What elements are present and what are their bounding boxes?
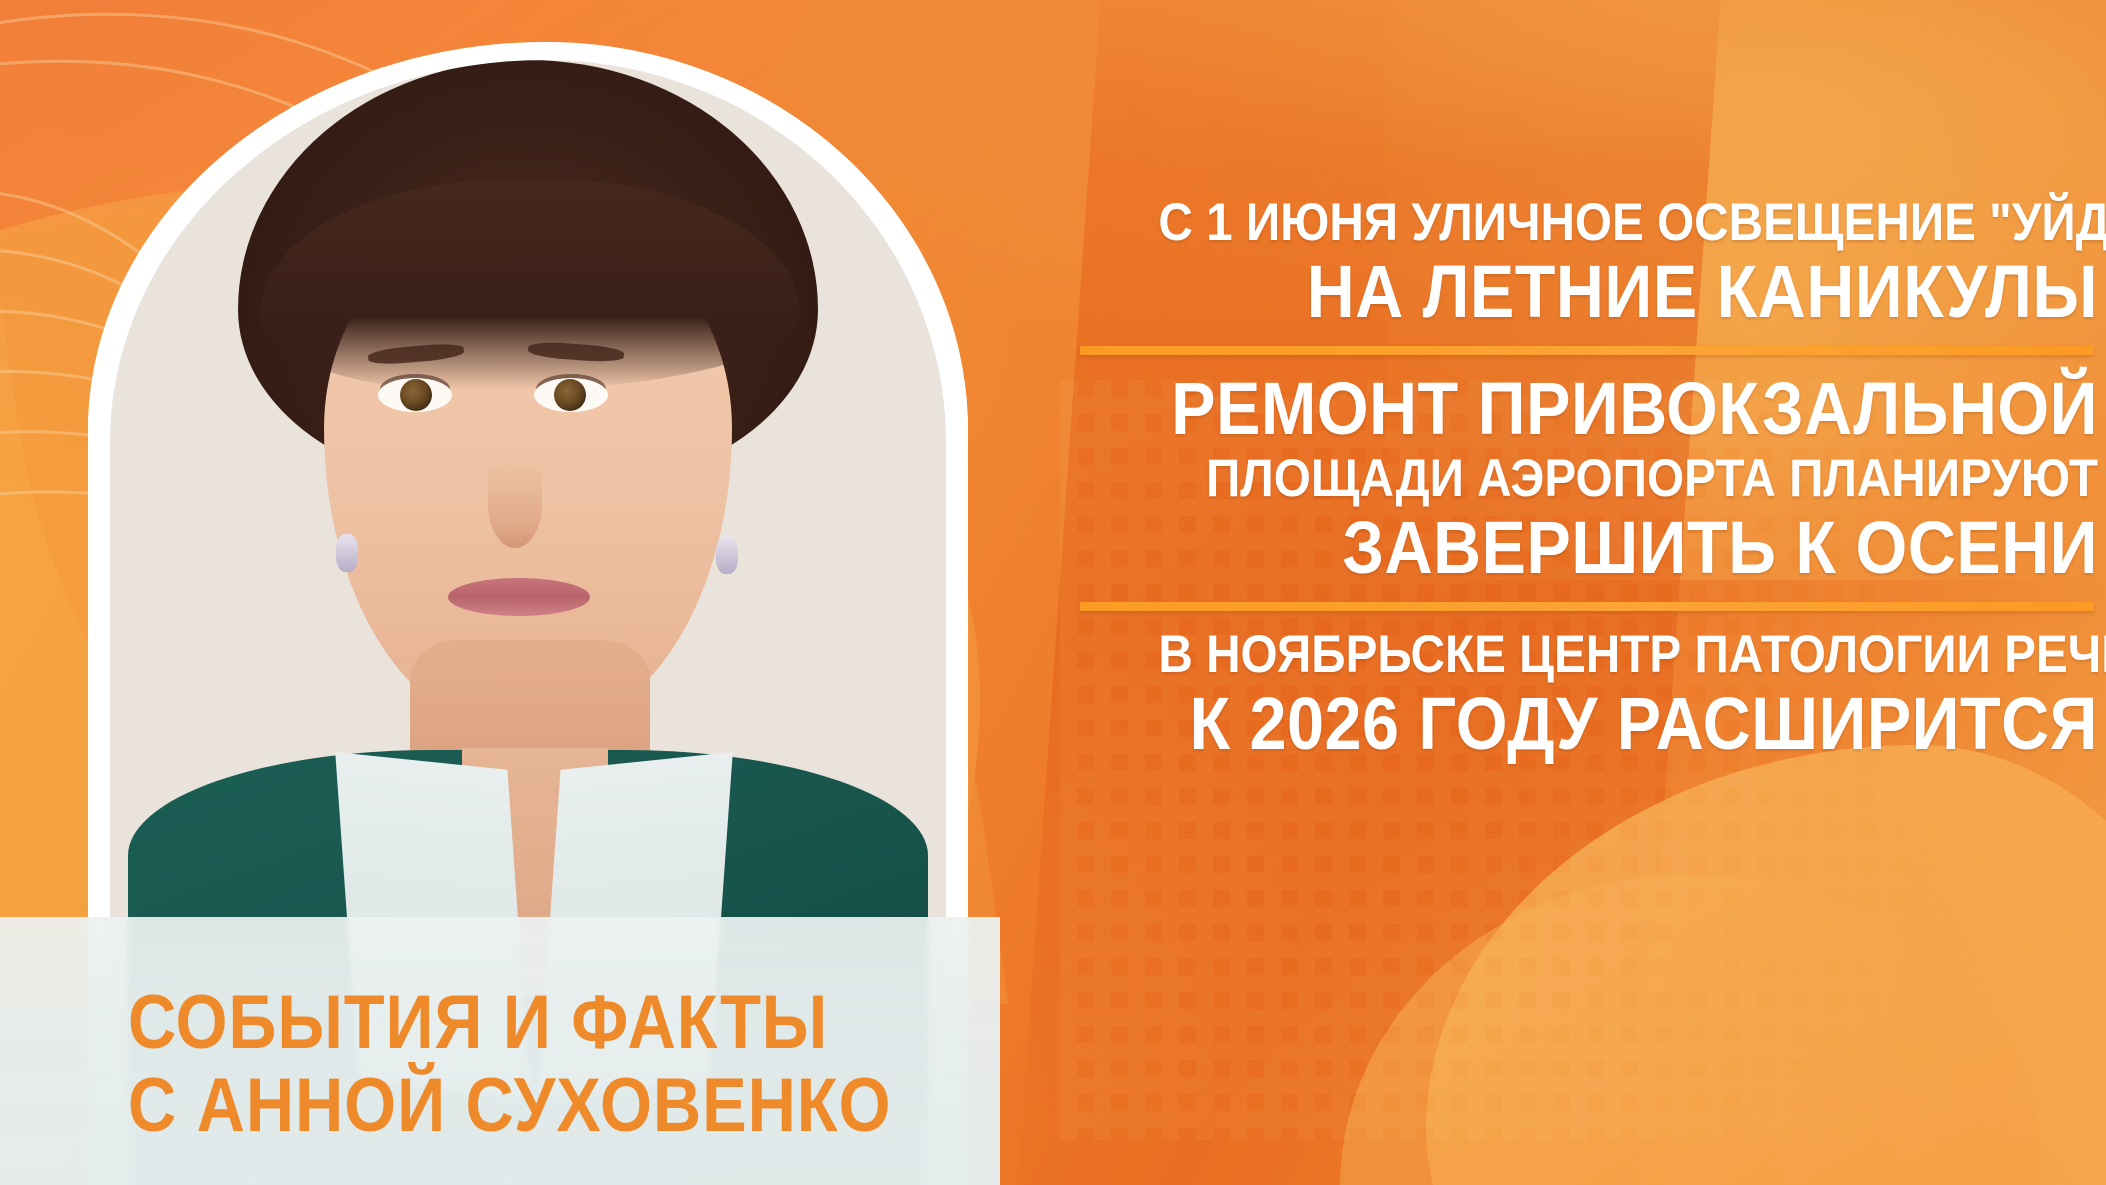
headline-2-line-3: ЗАВЕРШИТЬ К ОСЕНИ (1158, 511, 2098, 585)
show-title-panel: СОБЫТИЯ И ФАКТЫ С АННОЙ СУХОВЕНКО (0, 917, 1000, 1185)
presenter-pupil-right (554, 379, 586, 411)
presenter-nose (488, 460, 542, 548)
headline-3-line-1: В НОЯБРЬСКЕ ЦЕНТР ПАТОЛОГИИ РЕЧИ (1158, 628, 2098, 681)
presenter-earring-right (716, 536, 738, 574)
headline-1-line-1: С 1 ИЮНЯ УЛИЧНОЕ ОСВЕЩЕНИЕ "УЙДЁТ" (1158, 196, 2098, 249)
presenter-pupil-left (400, 379, 432, 411)
show-title-line-2: С АННОЙ СУХОВЕНКО (128, 1070, 850, 1143)
broadcast-graphic: СОБЫТИЯ И ФАКТЫ С АННОЙ СУХОВЕНКО С 1 ИЮ… (0, 0, 2106, 1185)
headline-item-3: В НОЯБРЬСКЕ ЦЕНТР ПАТОЛОГИИ РЕЧИ К 2026 … (1054, 628, 2106, 761)
headline-1-line-2: НА ЛЕТНИЕ КАНИКУЛЫ (1158, 255, 2098, 329)
show-title-line-1: СОБЫТИЯ И ФАКТЫ (128, 987, 850, 1060)
presenter-mouth (448, 578, 590, 616)
headline-item-2: РЕМОНТ ПРИВОКЗАЛЬНОЙ ПЛОЩАДИ АЭРОПОРТА П… (1054, 372, 2106, 585)
headline-item-1: С 1 ИЮНЯ УЛИЧНОЕ ОСВЕЩЕНИЕ "УЙДЁТ" НА ЛЕ… (1054, 196, 2106, 329)
headline-2-line-1: РЕМОНТ ПРИВОКЗАЛЬНОЙ (1158, 372, 2098, 446)
headline-list: С 1 ИЮНЯ УЛИЧНОЕ ОСВЕЩЕНИЕ "УЙДЁТ" НА ЛЕ… (1054, 196, 2106, 761)
headline-3-line-2: К 2026 ГОДУ РАСШИРИТСЯ (1158, 687, 2098, 761)
show-title-block: СОБЫТИЯ И ФАКТЫ С АННОЙ СУХОВЕНКО (128, 987, 948, 1143)
headline-divider-1 (1080, 346, 2094, 355)
presenter-earring-left (336, 534, 358, 572)
headline-2-line-2: ПЛОЩАДИ АЭРОПОРТА ПЛАНИРУЮТ (1158, 452, 2098, 505)
headline-divider-2 (1080, 602, 2094, 611)
